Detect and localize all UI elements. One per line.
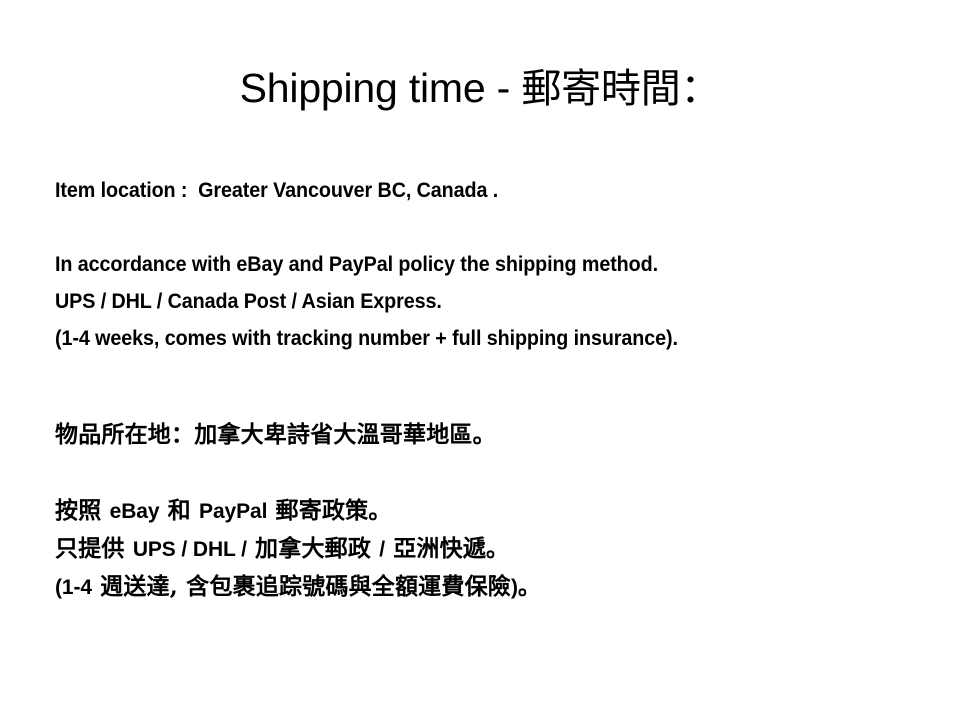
paragraph-shipping-policy-zh: 按照 eBay 和 PayPal 郵寄政策。 只提供 UPS / DHL / 加… xyxy=(55,492,915,606)
text-run-cjk: 。 xyxy=(518,573,541,600)
paragraph-spacer xyxy=(55,209,915,246)
text-run-cjk: 按照 xyxy=(55,497,110,524)
text-run-latin: eBay xyxy=(110,500,160,523)
text-line: (1-4 weeks, comes with tracking number +… xyxy=(55,320,863,357)
slide-title-block: Shipping time - 郵寄時間： xyxy=(0,66,960,112)
text-line: 只提供 UPS / DHL / 加拿大郵政 / 亞洲快遞。 xyxy=(55,530,915,568)
slide-canvas: Shipping time - 郵寄時間： Item location : Gr… xyxy=(0,0,960,720)
paragraph-item-location-zh: 物品所在地：加拿大卑詩省大溫哥華地區。 xyxy=(55,416,915,454)
text-line: 按照 eBay 和 PayPal 郵寄政策。 xyxy=(55,492,915,530)
text-run-cjk: 郵寄政策。 xyxy=(267,497,391,524)
paragraph-item-location: Item location : Greater Vancouver BC, Ca… xyxy=(55,172,915,209)
text-run-cjk: 週送達, 含包裹追踪號碼與全額運費保險 xyxy=(92,573,511,600)
text-run-cjk: 加拿大郵政 xyxy=(247,535,379,562)
page-title-latin: Shipping time - xyxy=(240,65,522,111)
text-line: Item location : Greater Vancouver BC, Ca… xyxy=(55,172,863,209)
paragraph-shipping-policy-en: In accordance with eBay and PayPal polic… xyxy=(55,246,915,357)
text-run-latin: ) xyxy=(511,576,518,599)
text-run-cjk: 只提供 xyxy=(55,535,133,562)
page-title-cjk: 郵寄時間： xyxy=(521,66,720,112)
paragraph-spacer xyxy=(55,395,915,416)
text-run-latin: UPS / DHL / xyxy=(133,538,247,561)
text-line: 物品所在地：加拿大卑詩省大溫哥華地區。 xyxy=(55,416,915,454)
slide-body: Item location : Greater Vancouver BC, Ca… xyxy=(55,172,915,606)
text-run-latin: (1-4 xyxy=(55,576,92,599)
text-run-cjk: 和 xyxy=(159,497,199,524)
text-run-cjk: 亞洲快遞。 xyxy=(385,535,509,562)
text-line: UPS / DHL / Canada Post / Asian Express. xyxy=(55,283,863,320)
paragraph-spacer xyxy=(55,357,915,395)
text-line: In accordance with eBay and PayPal polic… xyxy=(55,246,863,283)
text-line: (1-4 週送達, 含包裹追踪號碼與全額運費保險)。 xyxy=(55,568,915,606)
text-run-latin: PayPal xyxy=(199,500,267,523)
page-title: Shipping time - 郵寄時間： xyxy=(240,66,721,112)
paragraph-spacer xyxy=(55,454,915,492)
